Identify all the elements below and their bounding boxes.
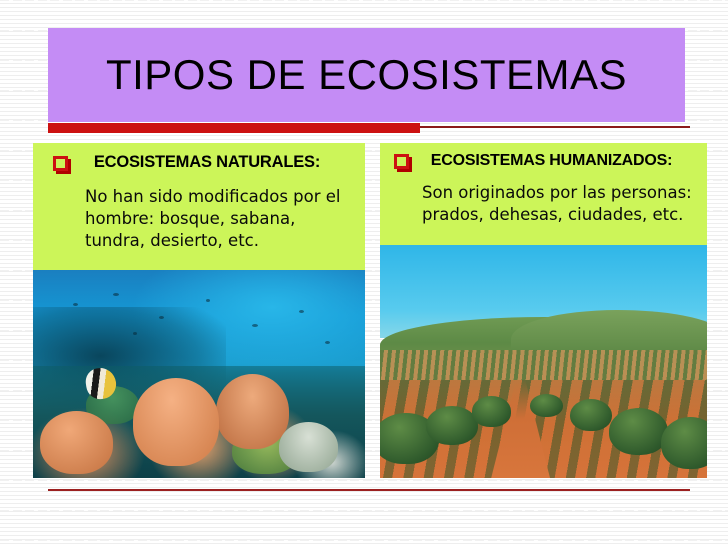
title-underline-thick bbox=[48, 123, 420, 133]
caption-box-right: ECOSISTEMAS HUMANIZADOS: Son originados … bbox=[380, 143, 707, 245]
column-heading-left: ECOSISTEMAS NATURALES: bbox=[71, 153, 357, 173]
column-ecosistemas-naturales: ECOSISTEMAS NATURALES: No han sido modif… bbox=[33, 143, 365, 478]
column-heading-right: ECOSISTEMAS HUMANIZADOS: bbox=[412, 151, 699, 170]
red-square-bullet-icon bbox=[394, 154, 412, 172]
olive-grove-photo bbox=[380, 245, 707, 478]
heading-row-left: ECOSISTEMAS NATURALES: bbox=[41, 153, 357, 174]
page-title: TIPOS DE ECOSISTEMAS bbox=[48, 28, 685, 122]
coral-reef-photo bbox=[33, 270, 365, 478]
caption-box-left: ECOSISTEMAS NATURALES: No han sido modif… bbox=[33, 143, 365, 270]
column-ecosistemas-humanizados: ECOSISTEMAS HUMANIZADOS: Son originados … bbox=[380, 143, 707, 478]
bottom-divider bbox=[48, 489, 690, 491]
column-body-right: Son originados por las personas: prados,… bbox=[388, 182, 699, 226]
column-body-left: No han sido modificados por el hombre: b… bbox=[41, 186, 357, 251]
heading-row-right: ECOSISTEMAS HUMANIZADOS: bbox=[388, 151, 699, 172]
red-square-bullet-icon bbox=[53, 156, 71, 174]
